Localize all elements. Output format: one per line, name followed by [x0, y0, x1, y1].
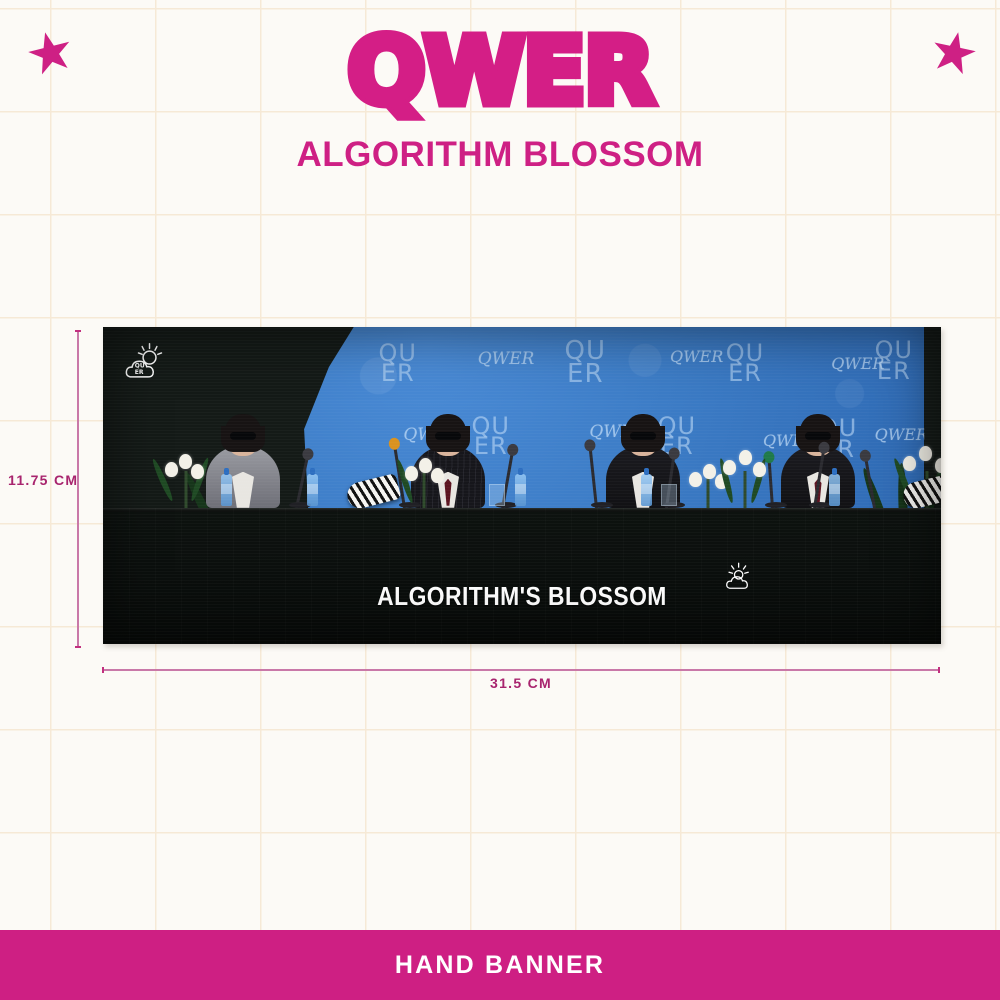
width-dimension-line [102, 669, 940, 671]
backdrop-wordmark: QWER [670, 347, 723, 366]
flower-bouquet [161, 451, 211, 511]
flower-bouquet [717, 447, 773, 511]
svg-text:ER: ER [135, 369, 144, 376]
width-dimension-value: 31.5 CM [490, 675, 552, 691]
backdrop-logo: QUER [565, 340, 607, 385]
footer-bar: HAND BANNER [0, 930, 1000, 1000]
backdrop-wordmark: QWER [478, 349, 535, 369]
page-title: QWER [0, 26, 1000, 118]
backdrop-logo: QUER [472, 416, 510, 457]
water-bottle [221, 474, 232, 506]
water-bottle [307, 474, 318, 506]
footer-label: HAND BANNER [395, 951, 605, 980]
width-dimension-label: 31.5 CM [0, 675, 1000, 691]
photo-caption: ALGORITHM'S BLOSSOM [153, 581, 890, 612]
product-photo: QWER QWER QWER QWER QWER QWER QWER QUER … [103, 327, 941, 644]
height-dimension-line [77, 330, 79, 648]
water-bottle [515, 474, 526, 506]
svg-text:QU: QU [135, 363, 145, 370]
height-dimension-label: 11.75 CM [8, 472, 78, 488]
sun-cloud-icon [721, 562, 755, 594]
flower-bouquet [399, 455, 449, 511]
qwer-cloud-sun-icon: QU ER [119, 341, 169, 387]
water-bottle [641, 474, 652, 506]
backdrop-logo: QUER [379, 343, 417, 384]
page-subtitle: ALGORITHM BLOSSOM [0, 136, 1000, 175]
drinking-glass [489, 484, 505, 506]
product-mockup-page: QWER ALGORITHM BLOSSOM QWER QWER QWER QW… [0, 0, 1000, 1000]
press-table [103, 508, 941, 644]
drinking-glass [661, 484, 677, 506]
backdrop-logo: QUER [875, 340, 913, 381]
water-bottle [829, 474, 840, 506]
backdrop-logo: QUER [726, 343, 764, 384]
